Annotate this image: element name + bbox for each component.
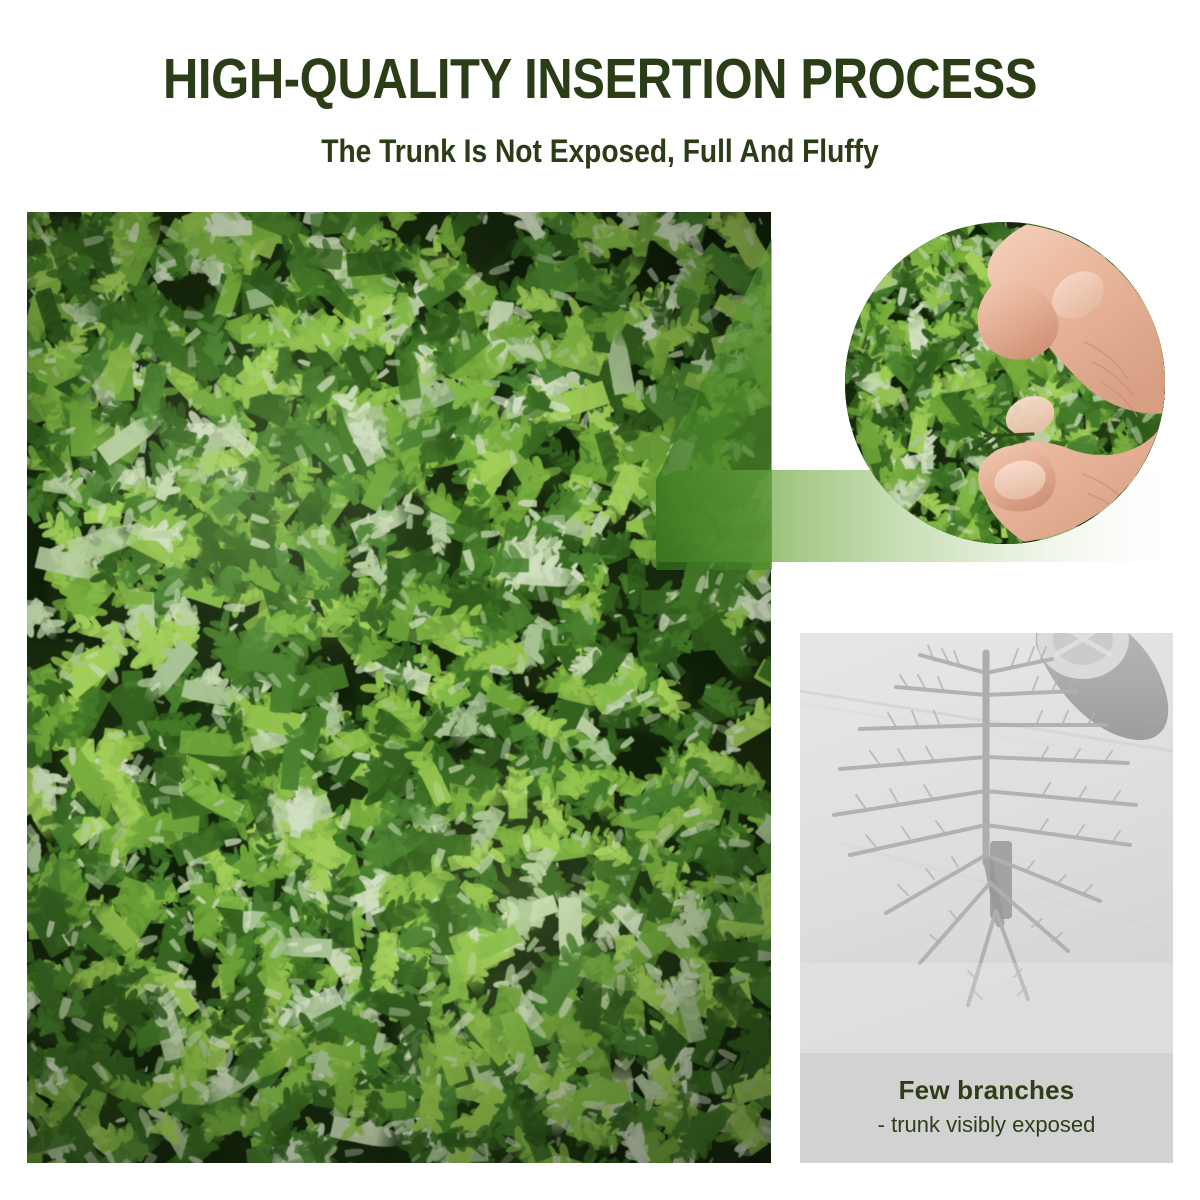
caption-title: Few branches <box>800 1053 1173 1106</box>
magnified-detail-circle <box>845 222 1165 544</box>
main-foliage-photo <box>27 212 771 1163</box>
sparse-tree-photo <box>800 633 1173 1053</box>
comparison-caption: Few branches - trunk visibly exposed <box>800 1053 1173 1163</box>
page-title: HIGH-QUALITY INSERTION PROCESS <box>84 48 1116 110</box>
sparse-tree-graphic <box>800 633 1173 1053</box>
page-subtitle: The Trunk Is Not Exposed, Full And Fluff… <box>72 132 1128 170</box>
foliage-texture <box>27 212 771 1163</box>
comparison-panel: Few branches - trunk visibly exposed <box>800 633 1173 1163</box>
hand-icon <box>845 222 1165 544</box>
caption-subtitle: - trunk visibly exposed <box>800 1106 1173 1138</box>
product-infographic: HIGH-QUALITY INSERTION PROCESS The Trunk… <box>0 0 1200 1200</box>
